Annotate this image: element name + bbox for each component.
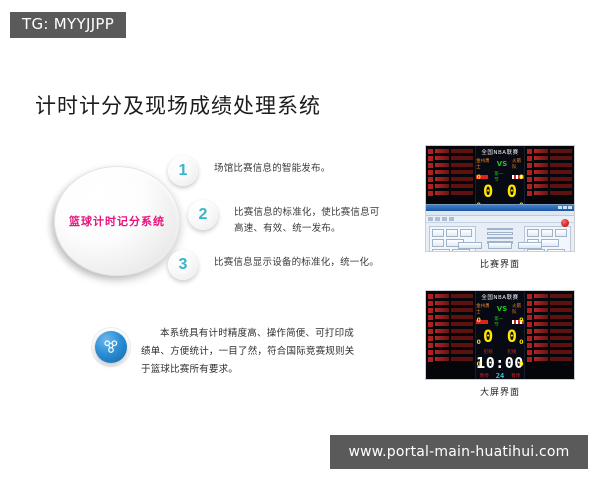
vs-label: VS [497, 160, 507, 168]
shot-clock: 24 [496, 372, 504, 380]
center-disc: 篮球计时记分系统 [54, 166, 180, 276]
edge-value: 0 [519, 174, 523, 181]
vs-label: VS [497, 305, 507, 313]
minimize-icon [558, 206, 562, 209]
maximize-icon [563, 206, 567, 209]
scoreboard-title: 全国NBA联赛 [481, 293, 518, 301]
window-footer-buttons [426, 242, 574, 249]
close-icon [568, 206, 572, 209]
edge-value: 0 [477, 174, 481, 181]
bullet-text: 比赛信息的标准化，使比赛信息可高速、有效、统一发布。 [234, 200, 380, 236]
figure-caption: 比赛界面 [425, 257, 575, 270]
list-item: 3 比赛信息显示设备的标准化，统一化。 [168, 250, 379, 280]
scoreboard-center: 全国NBA联赛 金州勇士 VS 火箭队 第一节 0 0 犯规 犯规 [475, 291, 525, 379]
edge-indicators-right: 0 0 0 [519, 309, 524, 375]
watermark-url-text: www.portal-main-huatihui.com [348, 444, 569, 460]
record-indicator-icon [561, 219, 569, 227]
figure-image: 全国NBA联赛 金州勇士 VS 火箭队 第一节 0 0 犯规 犯规 [425, 290, 575, 380]
network-nodes-icon [95, 331, 127, 363]
edge-value: 0 [477, 339, 481, 346]
game-clock: 10:00 [476, 356, 524, 371]
edge-value: 0 [519, 361, 523, 368]
score-home: 0 [483, 329, 493, 346]
summary-block: 本系统具有计时精度高、操作简便、可打印成绩单、方便统计，一目了然，符合国际竞赛规… [95, 325, 355, 379]
summary-text: 本系统具有计时精度高、操作简便、可打印成绩单、方便统计，一目了然，符合国际竞赛规… [141, 325, 355, 379]
quarter-label: 第一节 [494, 316, 506, 328]
scoreboard-title: 全国NBA联赛 [481, 148, 518, 156]
figure-bigscreen-interface: 全国NBA联赛 金州勇士 VS 火箭队 第一节 0 0 犯规 犯规 [425, 290, 575, 398]
concept-diagram: 篮球计时记分系统 1 场馆比赛信息的智能发布。 2 比赛信息的标准化，使比赛信息… [40, 160, 380, 300]
center-disc-label: 篮球计时记分系统 [69, 213, 165, 229]
list-item: 1 场馆比赛信息的智能发布。 [168, 156, 330, 186]
toolbar-icon [428, 217, 433, 221]
scoreboard-left-roster [426, 291, 475, 379]
bullet-text: 比赛信息显示设备的标准化，统一化。 [214, 250, 379, 271]
toolbar-icon [442, 217, 447, 221]
scoreboard-graphic: 全国NBA联赛 金州勇士 VS 火箭队 第一节 0 0 犯规 犯规 [426, 291, 574, 379]
footer-button [458, 242, 482, 249]
score-home: 0 [483, 184, 493, 201]
footer-button [488, 242, 512, 249]
figure-image: 全国NBA联赛 金州勇士 VS 火箭队 第一节 0 0 犯规 犯规 [425, 145, 575, 252]
number-badge: 1 [168, 156, 198, 186]
figure-match-interface: 全国NBA联赛 金州勇士 VS 火箭队 第一节 0 0 犯规 犯规 [425, 145, 575, 270]
window-toolbar [426, 216, 574, 223]
edge-value: 0 [477, 317, 481, 324]
score-away: 0 [507, 329, 517, 346]
number-badge: 2 [188, 200, 218, 230]
number-badge: 3 [168, 250, 198, 280]
edge-indicators-left: 0 0 0 [476, 309, 481, 375]
edge-value: 0 [477, 361, 481, 368]
page-title: 计时计分及现场成绩处理系统 [35, 90, 321, 120]
quarter-label: 第一节 [494, 171, 506, 183]
toolbar-icon [449, 217, 454, 221]
control-software-window [426, 204, 574, 251]
scoreboard-right-roster [525, 291, 574, 379]
score-away: 0 [507, 184, 517, 201]
edge-value: 0 [519, 317, 523, 324]
toolbar-icon [435, 217, 440, 221]
bullet-text: 场馆比赛信息的智能发布。 [214, 156, 330, 177]
edge-value: 0 [519, 339, 523, 346]
watermark-top-badge: TG: MYYJJPP [10, 12, 126, 38]
list-item: 2 比赛信息的标准化，使比赛信息可高速、有效、统一发布。 [188, 200, 380, 236]
footer-button [518, 242, 542, 249]
watermark-url-bar: www.portal-main-huatihui.com [330, 435, 588, 469]
figure-caption: 大屏界面 [425, 385, 575, 398]
